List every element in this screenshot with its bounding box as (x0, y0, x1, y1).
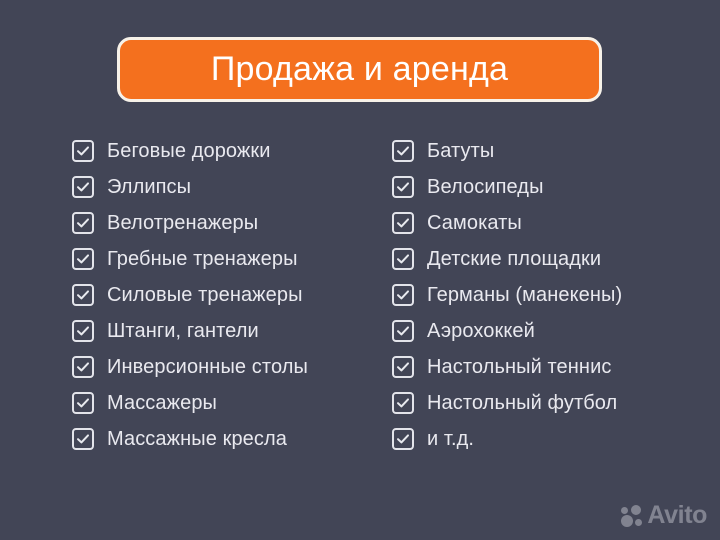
checkbox-checked-icon[interactable] (72, 392, 94, 414)
checklist-item[interactable]: Массажные кресла (72, 421, 382, 457)
checkbox-checked-icon[interactable] (72, 320, 94, 342)
page-title: Продажа и аренда (211, 52, 508, 88)
checkbox-checked-icon[interactable] (72, 212, 94, 234)
avito-dots-logo-icon (621, 505, 643, 527)
checklist-item-label: Настольный футбол (427, 393, 617, 413)
checklist-item[interactable]: Велотренажеры (72, 205, 382, 241)
checklist-item-label: Силовые тренажеры (107, 285, 303, 305)
checklist-item-label: Беговые дорожки (107, 141, 271, 161)
checklist-item[interactable]: Массажеры (72, 385, 382, 421)
checkbox-checked-icon[interactable] (72, 428, 94, 450)
checklist-item[interactable]: Настольный теннис (392, 349, 702, 385)
checklist-item[interactable]: Силовые тренажеры (72, 277, 382, 313)
checklist-item[interactable]: Германы (манекены) (392, 277, 702, 313)
checklist-item[interactable]: Гребные тренажеры (72, 241, 382, 277)
checklist-item[interactable]: Аэрохоккей (392, 313, 702, 349)
checklist-item-label: Гребные тренажеры (107, 249, 298, 269)
checklist-column-right: БатутыВелосипедыСамокатыДетские площадки… (392, 133, 702, 457)
checklist-item-label: Детские площадки (427, 249, 601, 269)
checklist-item[interactable]: Самокаты (392, 205, 702, 241)
checklist-item-label: Инверсионные столы (107, 357, 308, 377)
checkbox-checked-icon[interactable] (392, 176, 414, 198)
checklist-item[interactable]: Велосипеды (392, 169, 702, 205)
checklist-item-label: и т.д. (427, 429, 474, 449)
checklist-item[interactable]: Беговые дорожки (72, 133, 382, 169)
checkbox-checked-icon[interactable] (392, 320, 414, 342)
promo-poster: Продажа и аренда Беговые дорожкиЭллипсыВ… (0, 0, 720, 540)
checklist-item[interactable]: Инверсионные столы (72, 349, 382, 385)
checkbox-checked-icon[interactable] (72, 176, 94, 198)
checklist-item-label: Самокаты (427, 213, 522, 233)
checklist-item[interactable]: Настольный футбол (392, 385, 702, 421)
checklist-item[interactable]: и т.д. (392, 421, 702, 457)
checklist-item-label: Германы (манекены) (427, 285, 622, 305)
checklist-item[interactable]: Батуты (392, 133, 702, 169)
checklist-column-left: Беговые дорожкиЭллипсыВелотренажерыГребн… (72, 133, 382, 457)
checkbox-checked-icon[interactable] (72, 284, 94, 306)
checklist-item[interactable]: Детские площадки (392, 241, 702, 277)
checkbox-checked-icon[interactable] (72, 140, 94, 162)
checklist-item-label: Массажеры (107, 393, 217, 413)
checklist-item-label: Эллипсы (107, 177, 191, 197)
checklist-item[interactable]: Штанги, гантели (72, 313, 382, 349)
checkbox-checked-icon[interactable] (392, 212, 414, 234)
checklist-item-label: Велосипеды (427, 177, 544, 197)
checkbox-checked-icon[interactable] (392, 392, 414, 414)
checklist-item[interactable]: Эллипсы (72, 169, 382, 205)
title-banner: Продажа и аренда (117, 37, 602, 102)
checklist-item-label: Аэрохоккей (427, 321, 535, 341)
checklist-item-label: Настольный теннис (427, 357, 611, 377)
checkbox-checked-icon[interactable] (392, 140, 414, 162)
checkbox-checked-icon[interactable] (392, 356, 414, 378)
checkbox-checked-icon[interactable] (72, 356, 94, 378)
checklist-item-label: Батуты (427, 141, 494, 161)
checkbox-checked-icon[interactable] (72, 248, 94, 270)
checkbox-checked-icon[interactable] (392, 248, 414, 270)
avito-wordmark: Avito (647, 503, 707, 528)
checkbox-checked-icon[interactable] (392, 428, 414, 450)
title-banner-body: Продажа и аренда (117, 37, 602, 102)
checkbox-checked-icon[interactable] (392, 284, 414, 306)
checklist-item-label: Массажные кресла (107, 429, 287, 449)
avito-watermark: Avito (621, 503, 707, 528)
checklist-item-label: Штанги, гантели (107, 321, 259, 341)
checklist-item-label: Велотренажеры (107, 213, 258, 233)
